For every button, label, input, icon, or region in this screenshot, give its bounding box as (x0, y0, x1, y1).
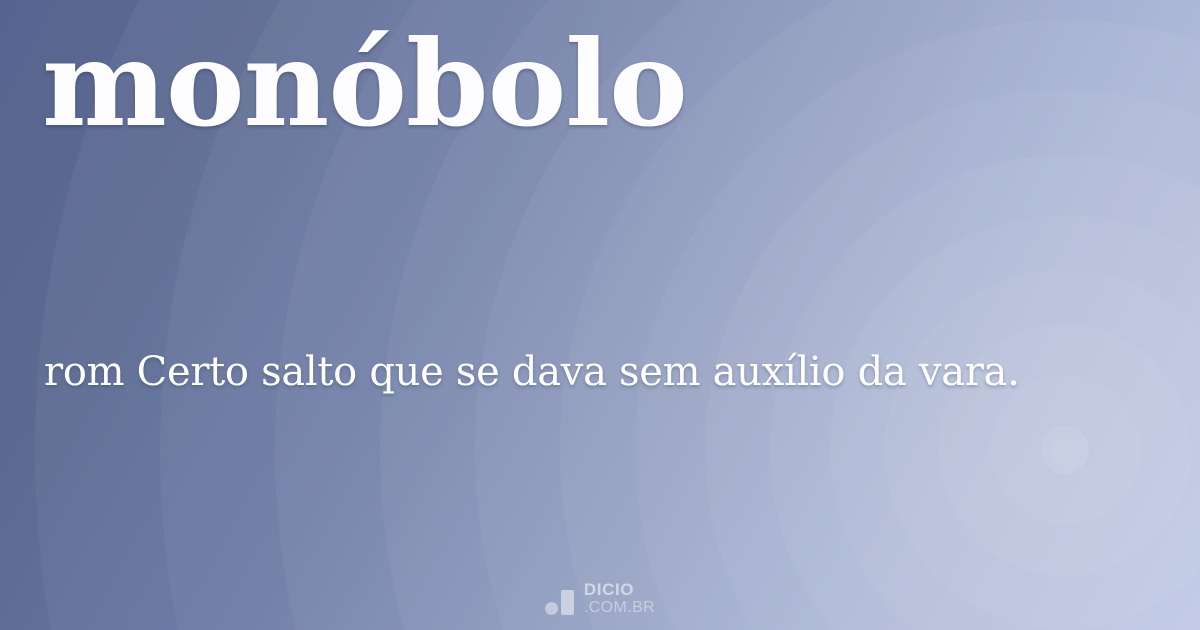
circle-icon (545, 602, 558, 615)
dicio-logo-text: DICIO .COM.BR (584, 581, 655, 616)
ring-8 (635, 20, 1200, 630)
ring-center-core (1050, 439, 1080, 465)
ring-4 (885, 270, 1200, 630)
brand-name: DICIO (584, 581, 634, 598)
ring-1 (1041, 426, 1089, 474)
ring-5 (830, 215, 1200, 630)
headword: monóbolo (42, 24, 687, 144)
dicio-logo[interactable]: DICIO .COM.BR (0, 581, 1200, 616)
brand-tld: .COM.BR (584, 600, 655, 616)
ring-2 (990, 375, 1140, 525)
definition-text: rom Certo salto que se dava sem auxílio … (44, 349, 1174, 396)
bar-icon (561, 590, 574, 615)
dictionary-card: monóbolo rom Certo salto que se dava sem… (0, 0, 1200, 630)
dicio-logo-mark (545, 590, 575, 616)
